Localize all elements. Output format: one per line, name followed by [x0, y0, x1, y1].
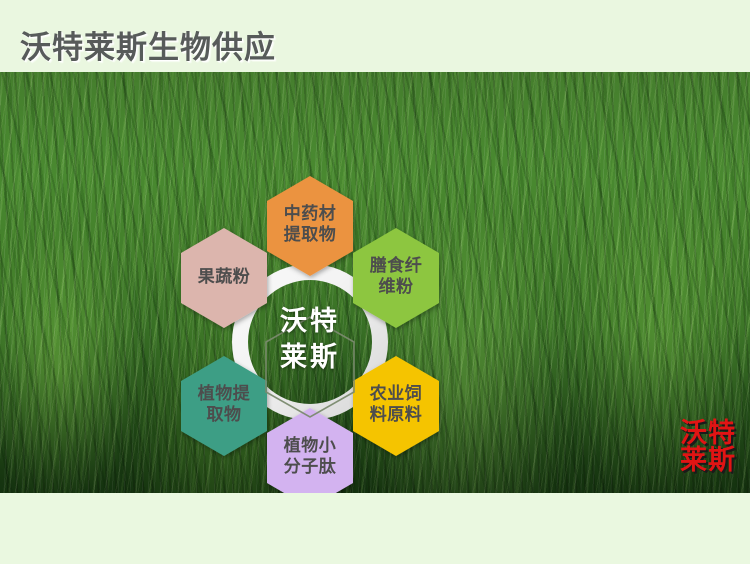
rice-field-photo: 中药材 提取物 膳食纤 维粉 农业饲 料原料 植物小 分子肽 植物提 取物 果蔬…	[0, 72, 750, 493]
hexagon-diagram: 中药材 提取物 膳食纤 维粉 农业饲 料原料 植物小 分子肽 植物提 取物 果蔬…	[130, 162, 490, 493]
brand-watermark: 沃特 莱斯	[680, 420, 736, 475]
slide-root: 沃特莱斯生物供应	[0, 0, 750, 564]
footer-strip	[0, 493, 750, 564]
page-title: 沃特莱斯生物供应	[20, 22, 276, 67]
hex-center-label: 沃特 莱斯	[240, 304, 380, 377]
header-bar: 沃特莱斯生物供应	[0, 0, 750, 72]
